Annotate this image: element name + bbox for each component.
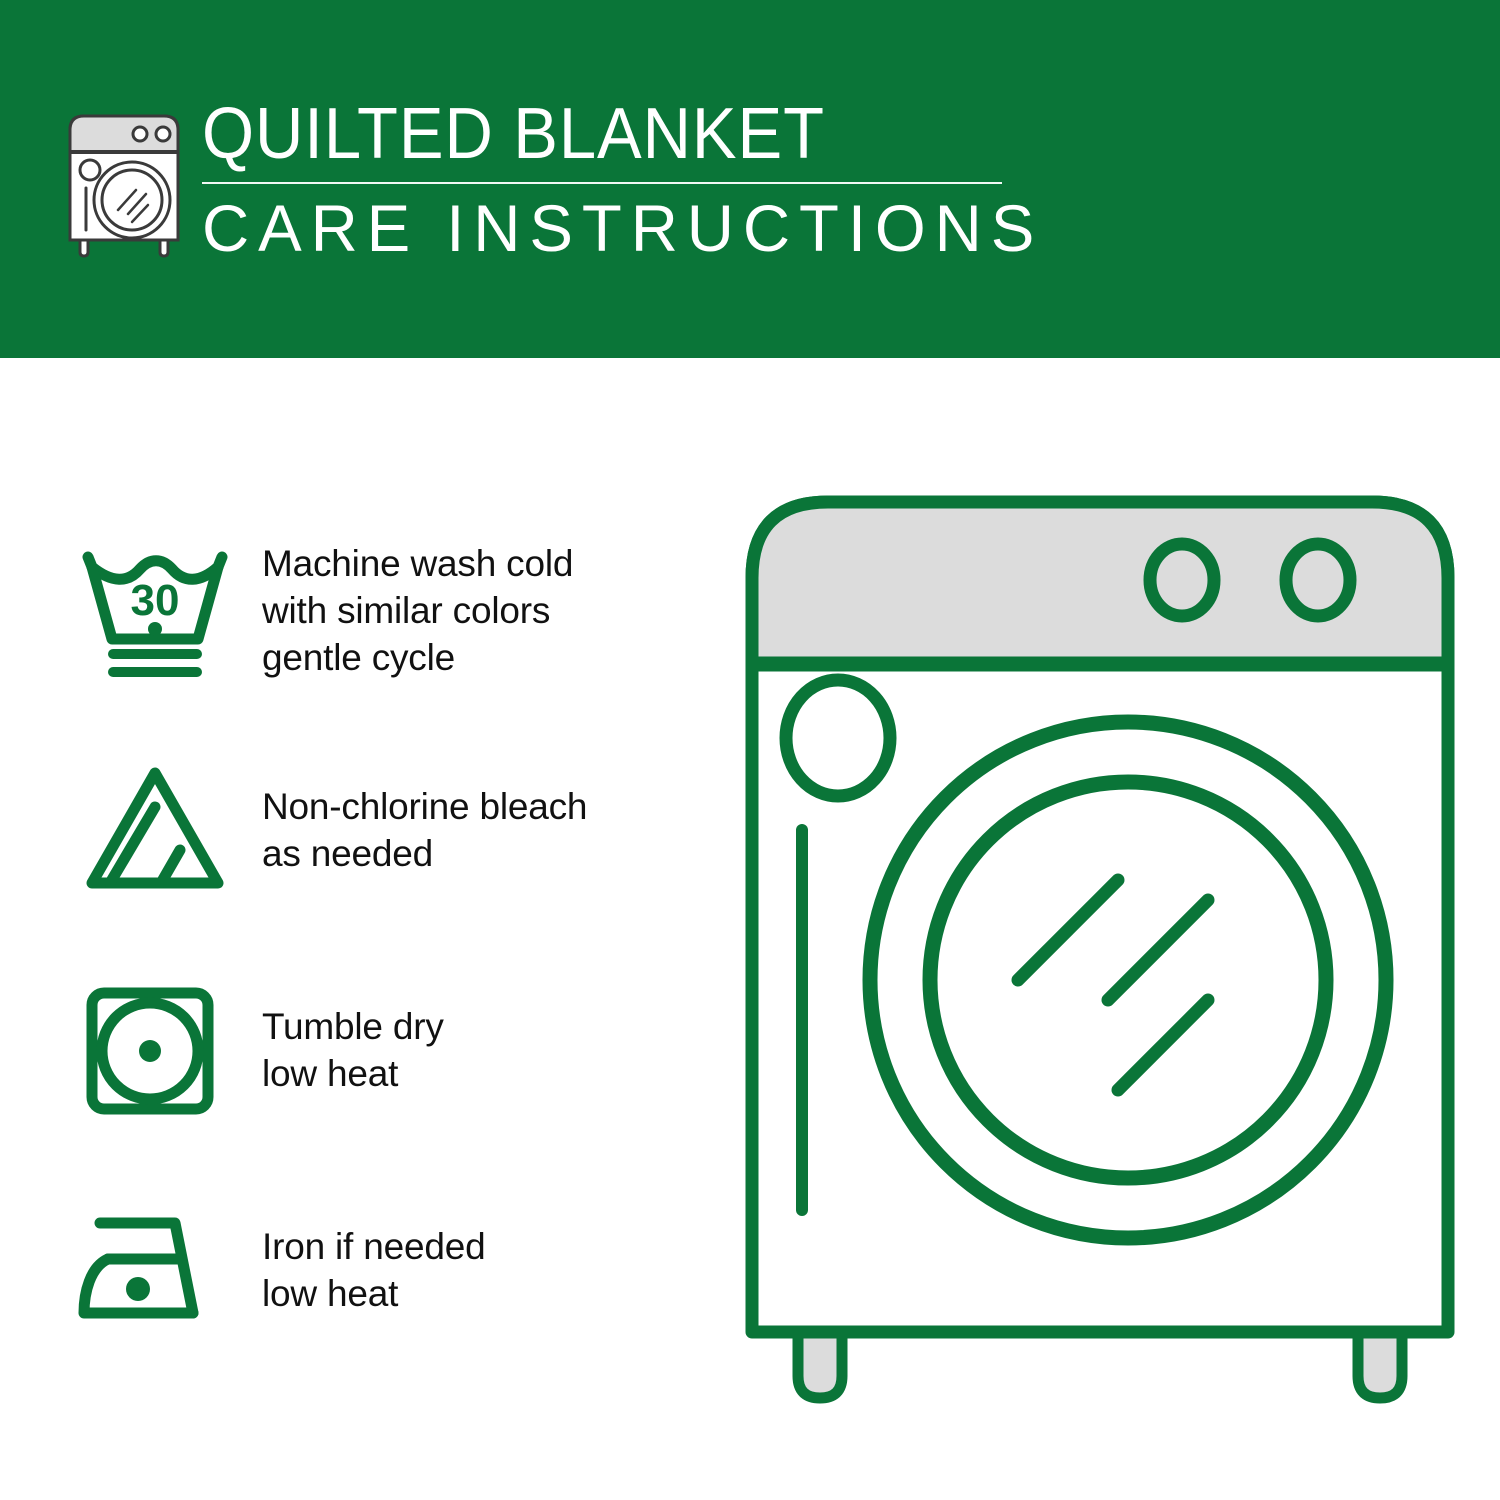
care-row-iron: Iron if needed low heat	[70, 1160, 710, 1380]
wash-temperature-value: 30	[131, 576, 180, 625]
washer-detergent-circle	[786, 680, 890, 796]
front-load-washing-machine-illustration	[730, 480, 1470, 1430]
triangle-non-chlorine-bleach-icon	[70, 750, 240, 910]
care-row-bleach: Non-chlorine bleach as needed	[70, 720, 710, 940]
title-divider	[202, 182, 1002, 184]
page-title: QUILTED BLANKET	[202, 96, 1000, 172]
wash-basin-30-gentle-icon: 30	[70, 530, 240, 690]
header-content: QUILTED BLANKET CARE INSTRUCTIONS	[60, 96, 1060, 276]
washer-knob-1	[1150, 544, 1214, 616]
care-text-wash: Machine wash cold with similar colors ge…	[240, 540, 710, 681]
page-subtitle: CARE INSTRUCTIONS	[202, 192, 1051, 264]
washing-machine-icon	[60, 102, 188, 262]
care-text-tumble-dry: Tumble dry low heat	[240, 1003, 710, 1097]
care-instruction-list: 30 Machine wash cold with similar colors…	[70, 500, 710, 1380]
tumble-dry-low-heat-icon	[70, 970, 240, 1130]
header-title-group: QUILTED BLANKET CARE INSTRUCTIONS	[202, 96, 1060, 264]
care-instructions-page: QUILTED BLANKET CARE INSTRUCTIONS 30	[0, 0, 1500, 1500]
care-text-iron: Iron if needed low heat	[240, 1223, 710, 1317]
washer-knob-2	[1286, 544, 1350, 616]
care-row-tumble-dry: Tumble dry low heat	[70, 940, 710, 1160]
washer-leg-right	[1358, 1332, 1402, 1398]
header-band: QUILTED BLANKET CARE INSTRUCTIONS	[0, 0, 1500, 358]
care-text-bleach: Non-chlorine bleach as needed	[240, 783, 710, 877]
care-row-wash: 30 Machine wash cold with similar colors…	[70, 500, 710, 720]
washer-leg-left	[798, 1332, 842, 1398]
iron-low-heat-icon	[70, 1190, 240, 1350]
